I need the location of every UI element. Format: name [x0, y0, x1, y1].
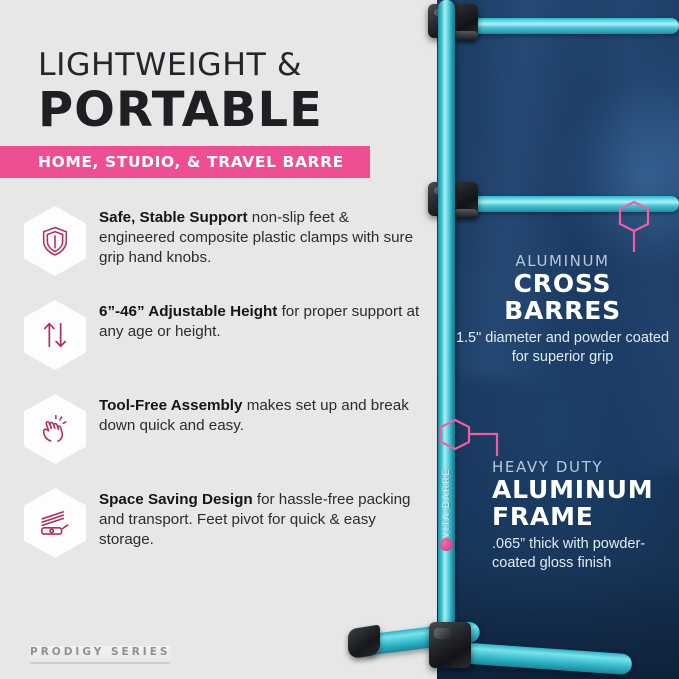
feature-item: Safe, Stable Support non-slip feet & eng…: [24, 204, 424, 276]
feature-item: Space Saving Design for hassle-free pack…: [24, 486, 424, 558]
feature-text: Space Saving Design for hassle-free pack…: [99, 486, 424, 551]
callout-description: 1.5" diameter and powder coated for supe…: [455, 329, 670, 366]
shield-icon: [24, 206, 86, 276]
callout-title: ALUMINUM FRAME: [492, 476, 679, 530]
subtitle-text: HOME, STUDIO, & TRAVEL BARRE: [38, 153, 344, 171]
callout-aluminum-frame: HEAVY DUTY ALUMINUM FRAME .065” thick wi…: [492, 458, 679, 572]
feature-text: Safe, Stable Support non-slip feet & eng…: [99, 204, 424, 269]
headline-line-2: PORTABLE: [38, 85, 418, 135]
hand-knob-middle: [452, 209, 478, 218]
subtitle-band: HOME, STUDIO, & TRAVEL BARRE: [0, 146, 370, 178]
headline-line-1: LIGHTWEIGHT &: [38, 50, 426, 81]
feature-text: Tool-Free Assembly makes set up and brea…: [99, 392, 424, 436]
feature-bold: Tool-Free Assembly: [99, 397, 242, 414]
callout-eyebrow: HEAVY DUTY: [492, 458, 679, 476]
callout-eyebrow: ALUMINUM: [455, 252, 670, 270]
up-down-arrows-icon: [24, 300, 86, 370]
callout-cross-barres: ALUMINUM CROSS BARRES 1.5" diameter and …: [455, 252, 670, 366]
feature-item: Tool-Free Assembly makes set up and brea…: [24, 392, 424, 464]
feature-bold: 6”-46” Adjustable Height: [99, 303, 277, 320]
hand-knob-top: [452, 31, 478, 40]
product-infographic: VITA BARRE ALUMINUM CROSS BARRES 1.5" di…: [0, 0, 679, 679]
series-badge: PRODIGY SERIES: [30, 646, 170, 664]
brand-logo-mark: [440, 538, 453, 551]
callout-description: .065” thick with powder-coated gloss fin…: [492, 535, 679, 572]
cross-barre-top: [466, 18, 679, 34]
cross-barre-middle: [466, 196, 679, 212]
brand-print: VITA BARRE: [441, 468, 451, 538]
headline-block: LIGHTWEIGHT & PORTABLE: [38, 50, 418, 135]
feature-bold: Space Saving Design: [99, 491, 253, 508]
feature-text: 6”-46” Adjustable Height for proper supp…: [99, 298, 424, 342]
feature-list: Safe, Stable Support non-slip feet & eng…: [24, 204, 424, 580]
feature-item: 6”-46” Adjustable Height for proper supp…: [24, 298, 424, 370]
callout-title: CROSS BARRES: [455, 270, 670, 324]
hand-icon: [24, 394, 86, 464]
folded-stack-icon: [24, 488, 86, 558]
feature-bold: Safe, Stable Support: [99, 209, 248, 226]
clamp-foot: [429, 622, 471, 668]
